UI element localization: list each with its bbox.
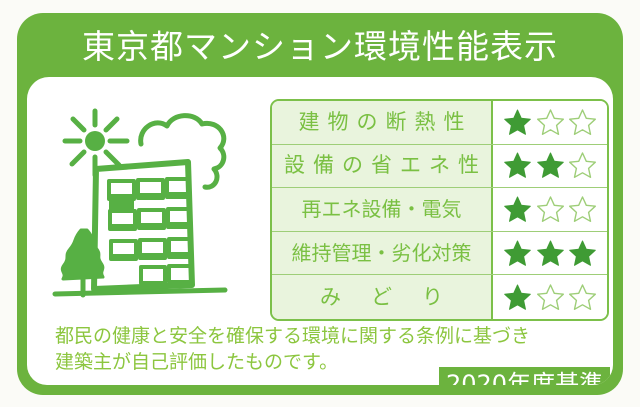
cloud-icon [141, 116, 224, 188]
rating-stars [493, 275, 607, 319]
rating-row: 再エネ設備・電気 [272, 188, 607, 232]
apartment-building-icon [94, 162, 192, 289]
page-title: 東京都マンション環境性能表示 [82, 30, 558, 63]
rating-stars [493, 145, 607, 188]
star-filled-icon [537, 240, 564, 267]
rating-stars [493, 232, 607, 275]
star-empty-icon [537, 284, 564, 311]
rating-row: 建物の断熱性 [272, 101, 607, 145]
star-empty-icon [537, 109, 564, 136]
rating-row: みどり [272, 275, 607, 319]
screenshot-root: 東京都マンション環境性能表示 [0, 0, 640, 407]
rating-label: 維持管理・劣化対策 [272, 232, 493, 275]
title-bar: 東京都マンション環境性能表示 [17, 13, 623, 79]
star-empty-icon [537, 196, 564, 223]
rating-row: 維持管理・劣化対策 [272, 232, 607, 276]
star-filled-icon [504, 240, 531, 267]
star-empty-icon [569, 152, 596, 179]
ratings-table: 建物の断熱性設備の省エネ性再エネ設備・電気維持管理・劣化対策みどり [270, 99, 609, 321]
rating-label: みどり [272, 275, 493, 319]
star-filled-icon [504, 109, 531, 136]
footer-line-1: 都民の健康と安全を確保する環境に関する条例に基づき [55, 323, 595, 349]
rating-label: 設備の省エネ性 [272, 145, 493, 188]
star-empty-icon [569, 284, 596, 311]
rating-label: 再エネ設備・電気 [272, 188, 493, 231]
star-filled-icon [537, 152, 564, 179]
star-filled-icon [569, 240, 596, 267]
content-panel: 建物の断熱性設備の省エネ性再エネ設備・電気維持管理・劣化対策みどり 都民の健康と… [27, 77, 613, 385]
rating-row: 設備の省エネ性 [272, 145, 607, 189]
star-empty-icon [569, 109, 596, 136]
rating-label: 建物の断熱性 [272, 101, 493, 144]
rating-stars [493, 101, 607, 144]
label-card: 東京都マンション環境性能表示 [17, 13, 623, 395]
eco-apartment-illustration [37, 89, 263, 307]
year-standard-badge: 2020年度基準 [439, 367, 610, 385]
star-filled-icon [504, 152, 531, 179]
star-filled-icon [504, 284, 531, 311]
star-filled-icon [504, 196, 531, 223]
rating-stars [493, 188, 607, 231]
star-empty-icon [569, 196, 596, 223]
